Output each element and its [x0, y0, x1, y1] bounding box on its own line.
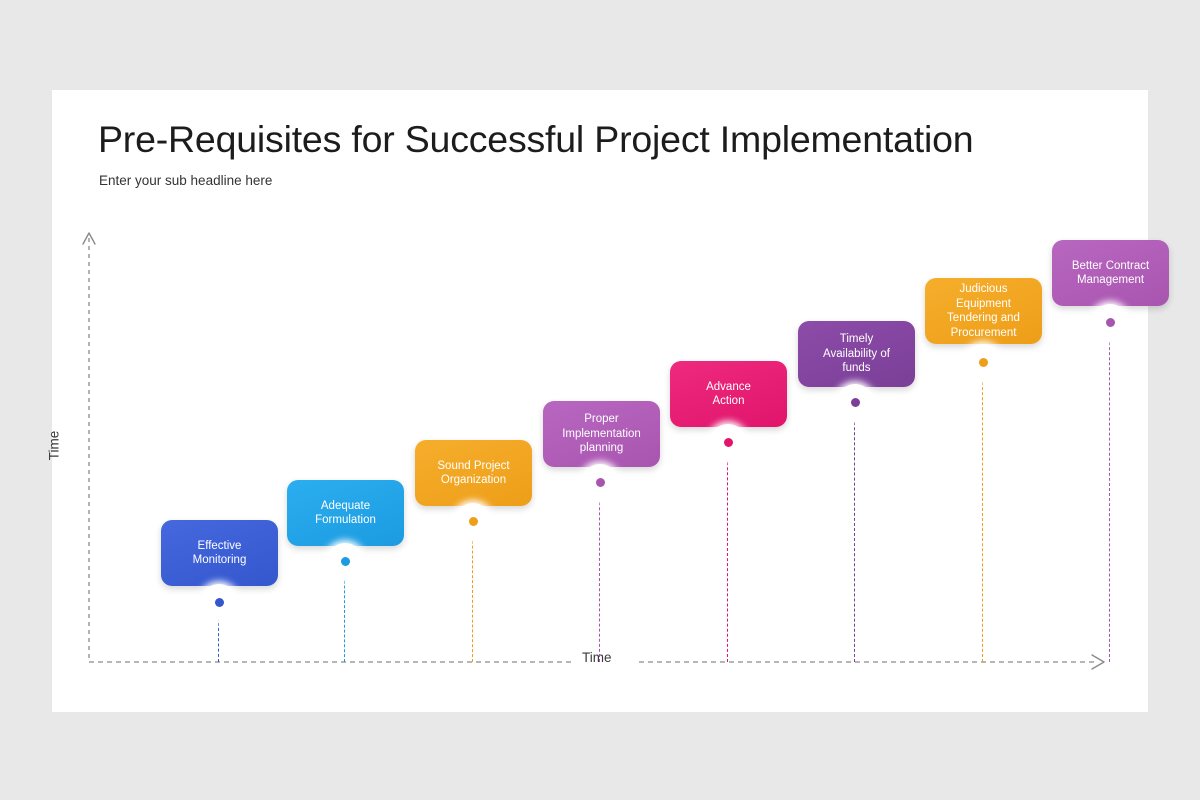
step-box[interactable]: Adequate Formulation	[287, 480, 404, 546]
step-label: Sound Project Organization	[437, 459, 509, 488]
step-connector-line	[854, 402, 855, 662]
y-axis-label: Time	[46, 431, 61, 461]
step-box[interactable]: Judicious Equipment Tendering and Procur…	[925, 278, 1042, 344]
step-box[interactable]: Sound Project Organization	[415, 440, 532, 506]
step-box[interactable]: Timely Availability of funds	[798, 321, 915, 387]
step-connector-line	[472, 521, 473, 662]
x-axis-label: Time	[582, 650, 612, 665]
step-box[interactable]: Proper Implementation planning	[543, 401, 660, 467]
timeline-chart: Time Time Effective MonitoringAdequate F…	[52, 90, 1148, 712]
step-dot[interactable]	[979, 358, 988, 367]
slide-card: Pre-Requisites for Successful Project Im…	[52, 90, 1148, 712]
step-label: Effective Monitoring	[193, 539, 247, 568]
step-connector-line	[982, 362, 983, 662]
step-dot[interactable]	[341, 557, 350, 566]
step-label: Better Contract Management	[1072, 259, 1149, 288]
step-box[interactable]: Better Contract Management	[1052, 240, 1169, 306]
step-dot[interactable]	[596, 478, 605, 487]
step-connector-line	[727, 442, 728, 662]
step-dot[interactable]	[1106, 318, 1115, 327]
step-connector-line	[599, 482, 600, 662]
step-dot[interactable]	[469, 517, 478, 526]
step-label: Adequate Formulation	[315, 499, 376, 528]
step-box[interactable]: Advance Action	[670, 361, 787, 427]
step-label: Judicious Equipment Tendering and Procur…	[947, 282, 1020, 340]
step-dot[interactable]	[851, 398, 860, 407]
step-dot[interactable]	[215, 598, 224, 607]
step-dot[interactable]	[724, 438, 733, 447]
step-connector-line	[1109, 322, 1110, 662]
step-label: Timely Availability of funds	[823, 332, 890, 376]
step-box[interactable]: Effective Monitoring	[161, 520, 278, 586]
step-label: Proper Implementation planning	[562, 412, 641, 456]
step-label: Advance Action	[706, 380, 751, 409]
